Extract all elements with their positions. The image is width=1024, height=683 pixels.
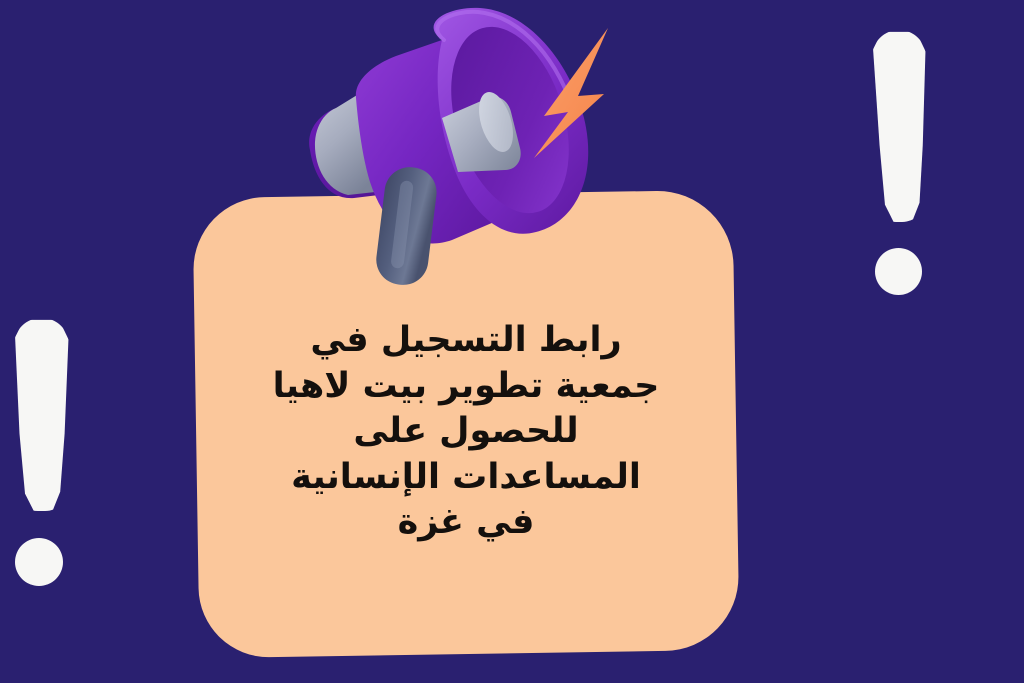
megaphone-band bbox=[315, 92, 384, 195]
announcement-line-2: جمعية تطوير بيت لاهيا bbox=[273, 364, 660, 410]
exclamation-dot-icon bbox=[15, 538, 63, 586]
megaphone-tail bbox=[309, 86, 420, 198]
megaphone-speaker-body bbox=[442, 97, 521, 172]
exclamation-mark-icon bbox=[14, 318, 74, 590]
poster-canvas: رابط التسجيل في جمعية تطوير بيت لاهيا لل… bbox=[0, 0, 1024, 683]
exclamation-mark-icon bbox=[872, 30, 932, 300]
announcement-line-1: رابط التسجيل في bbox=[310, 318, 621, 364]
megaphone-rim-highlight bbox=[437, 12, 575, 116]
exclamation-stem-icon bbox=[872, 30, 926, 222]
announcement-line-5: في غزة bbox=[398, 500, 535, 546]
announcement-card: رابط التسجيل في جمعية تطوير بيت لاهيا لل… bbox=[192, 190, 739, 658]
megaphone-speaker-cap bbox=[473, 88, 520, 156]
lightning-bolt-icon bbox=[534, 28, 608, 158]
announcement-line-4: المساعدات الإنسانية bbox=[291, 455, 641, 501]
exclamation-stem-icon bbox=[14, 318, 69, 511]
announcement-card-text-block: رابط التسجيل في جمعية تطوير بيت لاهيا لل… bbox=[196, 194, 736, 654]
exclamation-dot-icon bbox=[875, 248, 922, 295]
announcement-line-3: للحصول على bbox=[353, 409, 578, 455]
